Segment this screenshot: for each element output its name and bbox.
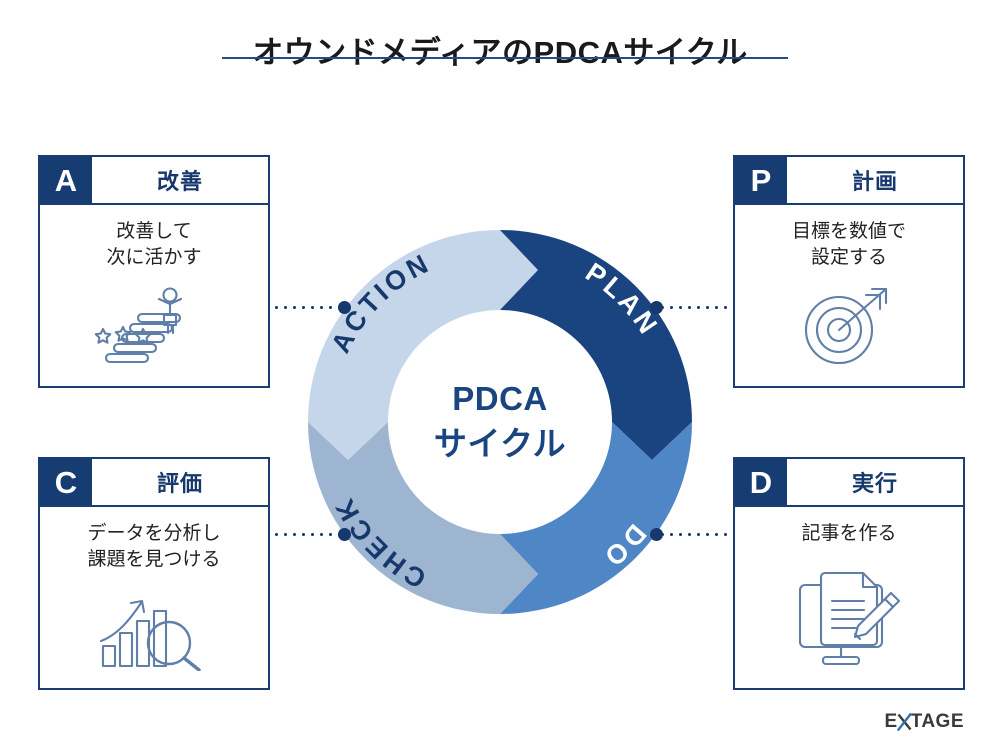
bar-chart-magnifier-icon [95,591,213,676]
pdca-cycle-ring: PLAN DO CHECK ACTION [300,222,700,622]
connector-dot-plan [650,301,663,314]
card-plan[interactable]: P 計画 目標を数値で 設定する [733,155,965,388]
card-check-letter: C [40,459,92,505]
title-underline-rule [222,57,788,59]
card-do-description: 記事を作る [801,521,896,547]
target-arrow-icon [794,283,904,374]
card-check-heading: 評価 [92,459,268,505]
card-do[interactable]: D 実行 記事を作る [733,457,965,690]
card-action-description: 改善して 次に活かす [106,219,201,270]
page-title: オウンドメディアのPDCAサイクル [0,34,1000,71]
stairs-person-stars-icon [90,283,218,374]
card-check-body: データを分析し 課題を見つける [40,507,268,688]
card-plan-header: P 計画 [735,157,963,205]
card-do-header: D 実行 [735,459,963,507]
card-check[interactable]: C 評価 データを分析し 課題を見つける [38,457,270,690]
ring-segment-action[interactable]: ACTION [308,230,538,460]
connector-dot-do [650,528,663,541]
connector-line-plan [658,306,733,309]
connector-line-action [272,306,342,309]
ring-segment-do[interactable]: DO [500,422,692,614]
card-action-heading: 改善 [92,157,268,203]
connector-dot-check [338,528,351,541]
card-action-header: A 改善 [40,157,268,205]
card-plan-description: 目標を数値で 設定する [792,219,906,270]
extage-logo: E TAGE [884,711,964,733]
monitor-document-pencil-icon [795,567,903,676]
card-plan-letter: P [735,157,787,203]
connector-line-check [272,533,342,536]
card-plan-heading: 計画 [787,157,963,203]
card-plan-body: 目標を数値で 設定する [735,205,963,386]
card-do-letter: D [735,459,787,505]
card-do-body: 記事を作る [735,507,963,688]
logo-suffix: TAGE [911,711,964,733]
card-do-heading: 実行 [787,459,963,505]
card-check-description: データを分析し 課題を見つける [87,521,220,572]
card-action-body: 改善して 次に活かす [40,205,268,386]
connector-dot-action [338,301,351,314]
title-area: オウンドメディアのPDCAサイクル [0,34,1000,71]
card-check-header: C 評価 [40,459,268,507]
connector-line-do [658,533,733,536]
logo-x-mark-icon [897,712,912,732]
card-action[interactable]: A 改善 改善して 次に活かす [38,155,270,388]
ring-segment-do-shape [500,422,692,614]
card-action-letter: A [40,157,92,203]
